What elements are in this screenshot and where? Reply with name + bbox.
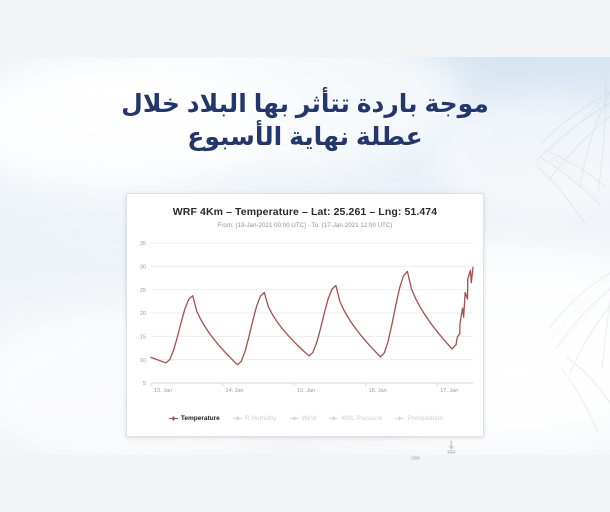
chart-gridlines [151, 243, 473, 360]
legend-item-label: MSL Pressure [341, 415, 382, 422]
legend-marker-icon [329, 415, 338, 422]
chart-subtitle: From: (13-Jan-2021 00:00 UTC) - To: (17-… [127, 223, 483, 229]
legend-item-label: Wind [302, 415, 317, 422]
svg-text:10: 10 [140, 358, 146, 364]
chart-legend: TemperatureR.HumidityWindMSL PressurePre… [127, 415, 485, 422]
print-icon[interactable] [447, 441, 456, 459]
svg-text:25: 25 [140, 288, 146, 294]
svg-text:16. Jan: 16. Jan [369, 388, 387, 394]
svg-text:15: 15 [140, 335, 146, 341]
svg-text:17. Jan: 17. Jan [440, 388, 458, 394]
legend-item-r-humidity[interactable]: R.Humidity [233, 415, 277, 422]
legend-item-temperature[interactable]: Temperature [169, 415, 220, 422]
legend-item-label: Precipitation [407, 415, 443, 422]
temperature-series-line [151, 267, 473, 365]
legend-item-msl-pressure[interactable]: MSL Pressure [329, 415, 382, 422]
legend-item-label: R.Humidity [245, 415, 277, 422]
chart-title: WRF 4Km – Temperature – Lat: 25.261 – Ln… [127, 206, 483, 218]
chart-plot-area: 5101520253035 13. Jan14. Jan15. Jan16. J… [127, 237, 485, 397]
svg-text:15. Jan: 15. Jan [297, 388, 315, 394]
legend-marker-icon [395, 415, 404, 422]
post-stage: موجة باردة تتأثر بها البلاد خلال عطلة نه… [0, 0, 610, 512]
legend-item-label: Temperature [181, 415, 220, 422]
svg-text:35: 35 [140, 241, 146, 247]
legend-marker-icon [290, 415, 299, 422]
svg-text:13. Jan: 13. Jan [154, 388, 172, 394]
legend-item-precipitation[interactable]: Precipitation [395, 415, 443, 422]
chart-card: WRF 4Km – Temperature – Lat: 25.261 – Ln… [126, 193, 484, 437]
legend-marker-icon [233, 415, 242, 422]
download-icon[interactable] [411, 447, 420, 465]
svg-text:5: 5 [143, 381, 146, 387]
legend-marker-icon [169, 415, 178, 422]
legend-item-wind[interactable]: Wind [290, 415, 317, 422]
svg-text:14. Jan: 14. Jan [226, 388, 244, 394]
svg-text:20: 20 [140, 311, 146, 317]
chart-y-axis-labels: 5101520253035 [140, 241, 146, 387]
svg-text:30: 30 [140, 265, 146, 271]
page-title: موجة باردة تتأثر بها البلاد خلال عطلة نه… [0, 88, 610, 154]
chart-x-axis-labels: 13. Jan14. Jan15. Jan16. Jan17. Jan [154, 388, 458, 394]
temperature-line-chart: 5101520253035 13. Jan14. Jan15. Jan16. J… [127, 237, 485, 397]
